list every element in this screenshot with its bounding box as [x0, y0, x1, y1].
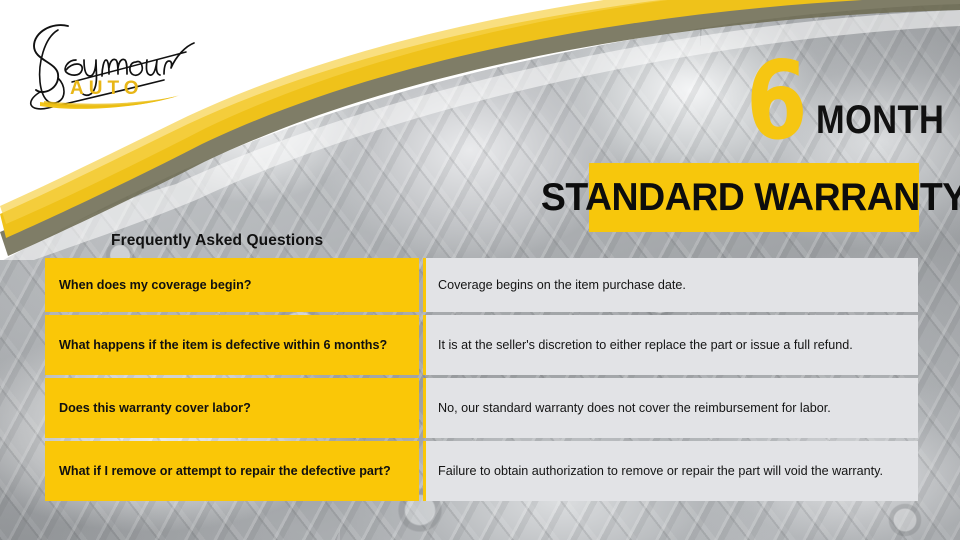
faq-question-text: When does my coverage begin? — [59, 277, 405, 294]
faq-question-cell: When does my coverage begin? — [45, 258, 419, 312]
faq-row: Does this warranty cover labor? No, our … — [45, 378, 918, 438]
faq-answer-text: No, our standard warranty does not cover… — [438, 399, 904, 417]
faq-answer-cell: It is at the seller's discretion to eith… — [423, 315, 918, 375]
faq-heading: Frequently Asked Questions — [111, 232, 323, 250]
faq-answer-text: It is at the seller's discretion to eith… — [438, 336, 904, 354]
faq-row: When does my coverage begin? Coverage be… — [45, 258, 918, 312]
faq-table: When does my coverage begin? Coverage be… — [45, 258, 918, 501]
faq-question-text: What happens if the item is defective wi… — [59, 337, 405, 354]
duration-unit: MONTH — [816, 100, 944, 140]
faq-question-cell: Does this warranty cover labor? — [45, 378, 419, 438]
faq-row: What happens if the item is defective wi… — [45, 315, 918, 375]
faq-answer-text: Failure to obtain authorization to remov… — [438, 462, 904, 480]
faq-row: What if I remove or attempt to repair th… — [45, 441, 918, 501]
duration-number: 6 — [746, 48, 806, 156]
faq-question-text: What if I remove or attempt to repair th… — [59, 463, 405, 480]
faq-answer-cell: Failure to obtain authorization to remov… — [423, 441, 918, 501]
faq-answer-cell: No, our standard warranty does not cover… — [423, 378, 918, 438]
warranty-banner-title: STANDARD WARRANTY — [541, 178, 960, 217]
faq-question-text: Does this warranty cover labor? — [59, 400, 405, 417]
standard-warranty-banner: STANDARD WARRANTY — [589, 163, 919, 232]
faq-answer-cell: Coverage begins on the item purchase dat… — [423, 258, 918, 312]
faq-question-cell: What if I remove or attempt to repair th… — [45, 441, 419, 501]
duration-badge: 6 MONTH — [742, 52, 942, 152]
svg-text:AUTO: AUTO — [70, 78, 143, 99]
seymour-auto-logo: AUTO — [14, 16, 204, 112]
faq-question-cell: What happens if the item is defective wi… — [45, 315, 419, 375]
warranty-slide: AUTO 6 MONTH STANDARD WARRANTY Frequentl… — [0, 0, 960, 540]
faq-answer-text: Coverage begins on the item purchase dat… — [438, 276, 904, 294]
